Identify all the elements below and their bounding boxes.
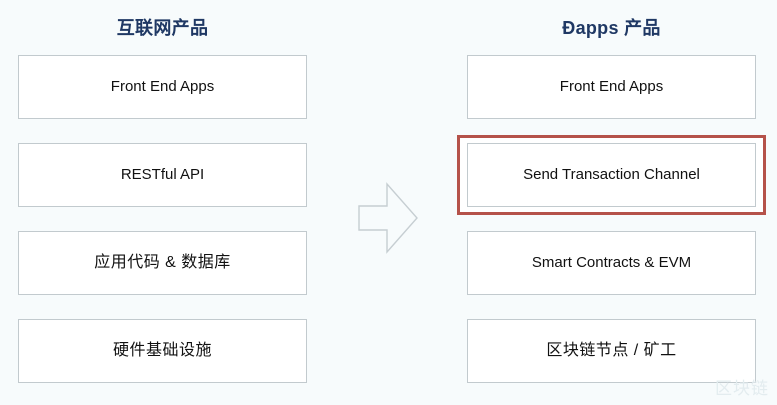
layer-box-label: RESTful API [121,165,204,185]
layer-row: Smart Contracts & EVM [467,231,756,295]
layer-row: 区块链节点 / 矿工 [467,319,756,383]
column-title-dapps: Đapps 产品 [467,17,756,39]
layer-box-label: Front End Apps [111,77,214,97]
layer-box-dapps-1[interactable]: Front End Apps [467,55,756,119]
diagram-canvas: 互联网产品 Đapps 产品 Front End Apps RESTful AP… [0,0,777,405]
layer-box-label: Send Transaction Channel [523,165,700,185]
layer-box-dapps-2[interactable]: Send Transaction Channel [467,143,756,207]
layer-box-label: Smart Contracts & EVM [532,253,691,273]
layer-box-internet-4[interactable]: 硬件基础设施 [18,319,307,383]
layer-row: 应用代码 & 数据库 [18,231,307,295]
layer-box-internet-2[interactable]: RESTful API [18,143,307,207]
layer-box-dapps-3[interactable]: Smart Contracts & EVM [467,231,756,295]
layer-row-highlighted: Send Transaction Channel [467,143,756,207]
layer-row: RESTful API [18,143,307,207]
column-title-internet: 互联网产品 [18,17,307,39]
watermark: 区块链 [715,374,769,399]
layer-box-label: 硬件基础设施 [113,341,212,361]
stack-dapps: Front End Apps Send Transaction Channel … [467,55,756,383]
stack-internet: Front End Apps RESTful API 应用代码 & 数据库 硬件… [18,55,307,383]
layer-row: 硬件基础设施 [18,319,307,383]
layer-box-dapps-4[interactable]: 区块链节点 / 矿工 [467,319,756,383]
layer-row: Front End Apps [18,55,307,119]
layer-box-internet-3[interactable]: 应用代码 & 数据库 [18,231,307,295]
layer-box-internet-1[interactable]: Front End Apps [18,55,307,119]
layer-box-label: Front End Apps [560,77,663,97]
layer-row: Front End Apps [467,55,756,119]
right-block-arrow-icon [357,182,419,254]
layer-box-label: 区块链节点 / 矿工 [546,341,676,361]
layer-box-label: 应用代码 & 数据库 [94,253,231,273]
